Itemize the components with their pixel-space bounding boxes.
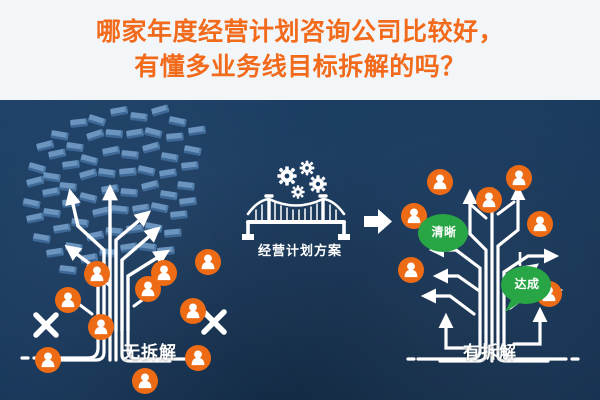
reject-x-left-icon [36,315,56,335]
person-badge-icon [506,165,532,191]
bubble-clarity-label: 清晰 [420,223,468,240]
header-banner: 哪家年度经营计划咨询公司比较好， 有懂多业务线目标拆解的吗？ [0,0,600,100]
page-title-line-2: 有懂多业务线目标拆解的吗？ [134,50,466,86]
page-title-line-1: 哪家年度经营计划咨询公司比较好， [96,15,504,51]
person-badge-icon [55,287,81,313]
person-badge-icon [35,347,61,373]
person-badge-icon [135,276,161,302]
person-badge-icon [88,314,114,340]
right-panel-caption: 有拆解 [400,338,580,363]
person-badge-icon [180,298,206,324]
person-badge-icon [527,211,553,237]
center-right-arrow-icon [364,209,392,234]
bubble-achieve-label: 达成 [503,275,551,292]
person-badge-icon [195,249,221,275]
poster-canvas: 哪家年度经营计划咨询公司比较好， 有懂多业务线目标拆解的吗？ [0,0,600,400]
person-badge-icon [476,187,502,213]
person-badge-icon [84,261,110,287]
person-badge-icon [427,169,453,195]
reject-x-right-icon [204,312,224,332]
left-panel-caption: 无拆解 [60,338,240,363]
bridge-icon [242,196,350,240]
person-badge-icon [398,257,424,283]
left-block-canopy [22,104,206,275]
illustration-stage: 经营计划方案 清晰 达成 无拆解 有拆解 [0,100,600,400]
center-panel-label: 经营计划方案 [240,240,360,259]
gears-icon [277,161,326,199]
person-badge-icon [132,368,158,394]
